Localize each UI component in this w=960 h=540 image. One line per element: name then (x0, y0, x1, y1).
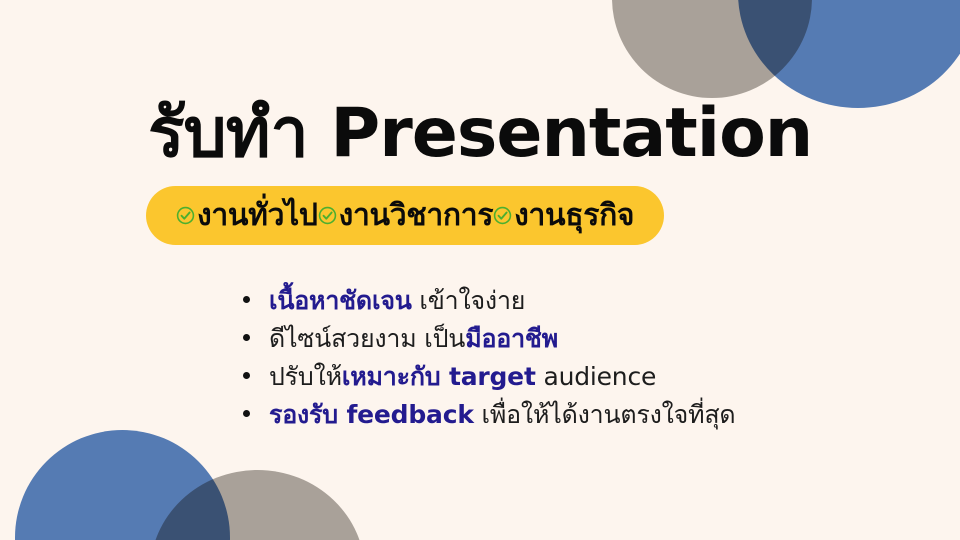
badge-label-academic: งานวิชาการ (339, 201, 493, 231)
emphasised-text: รองรับ feedback (269, 400, 474, 429)
list-item-label: เนื้อหาชัดเจน เข้าใจง่าย (269, 286, 525, 316)
list-item: ดีไซน์สวยงาม เป็นมืออาชีพ (243, 324, 735, 362)
slide-content: รับทำ Presentation งานทั่วไป (0, 0, 960, 540)
badge-label-general: งานทั่วไป (197, 201, 318, 231)
service-categories-badge: งานทั่วไป งานวิชาการ ง (146, 186, 664, 245)
list-item-label: รองรับ feedback เพื่อให้ได้งานตรงใจที่สุ… (269, 400, 735, 430)
bullet-dot-icon (243, 410, 250, 417)
feature-bullet-list: เนื้อหาชัดเจน เข้าใจง่ายดีไซน์สวยงาม เป็… (243, 286, 735, 438)
badge-item-academic: งานวิชาการ (318, 201, 493, 231)
bullet-dot-icon (243, 334, 250, 341)
badge-item-general: งานทั่วไป (176, 201, 318, 231)
plain-text: เพื่อให้ได้งานตรงใจที่สุด (474, 400, 736, 429)
list-item: ปรับให้เหมาะกับ target audience (243, 362, 735, 400)
plain-text: เข้าใจง่าย (412, 286, 526, 315)
plain-text: ดีไซน์สวยงาม เป็น (269, 324, 465, 353)
plain-text: ปรับให้ (269, 362, 342, 391)
page-title: รับทำ Presentation (148, 96, 812, 172)
check-circle-icon (318, 206, 337, 225)
list-item-label: ปรับให้เหมาะกับ target audience (269, 362, 656, 392)
badge-item-business: งานธุรกิจ (493, 201, 634, 231)
list-item: รองรับ feedback เพื่อให้ได้งานตรงใจที่สุ… (243, 400, 735, 438)
badge-label-business: งานธุรกิจ (514, 201, 634, 231)
emphasised-text: มืออาชีพ (465, 324, 558, 353)
check-circle-icon (176, 206, 195, 225)
list-item: เนื้อหาชัดเจน เข้าใจง่าย (243, 286, 735, 324)
list-item-label: ดีไซน์สวยงาม เป็นมืออาชีพ (269, 324, 558, 354)
presentation-slide: รับทำ Presentation งานทั่วไป (0, 0, 960, 540)
check-circle-icon (493, 206, 512, 225)
emphasised-text: เหมาะกับ target (342, 362, 536, 391)
plain-text: audience (536, 362, 656, 391)
bullet-dot-icon (243, 296, 250, 303)
emphasised-text: เนื้อหาชัดเจน (269, 286, 412, 315)
bullet-dot-icon (243, 372, 250, 379)
